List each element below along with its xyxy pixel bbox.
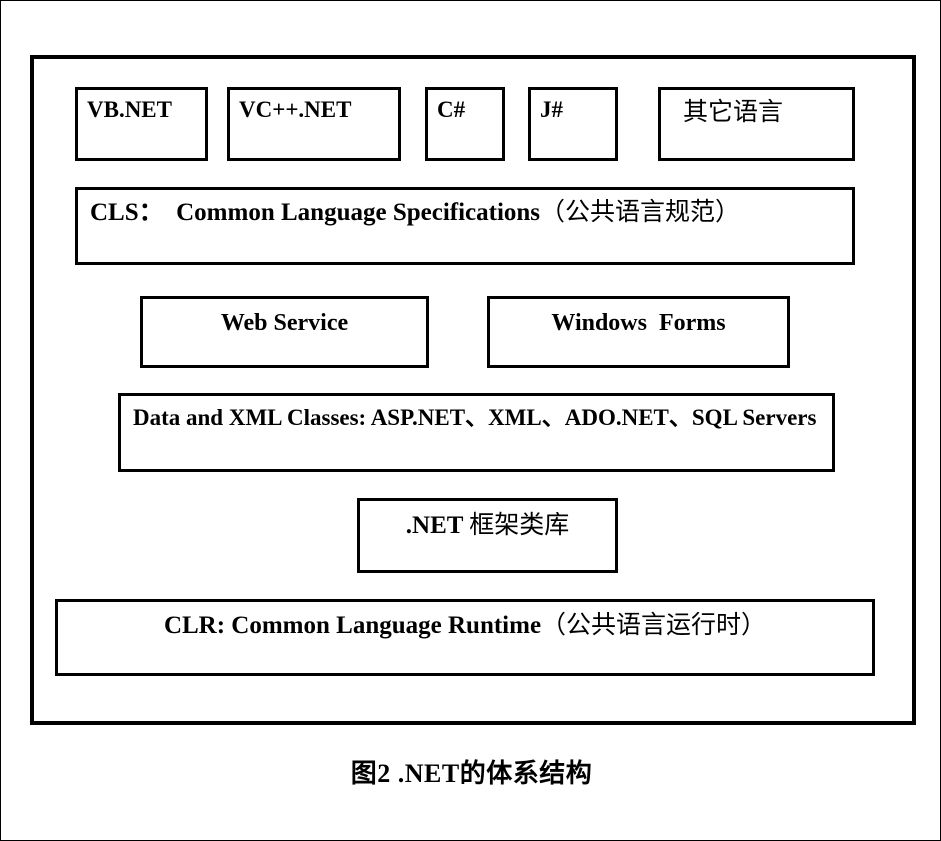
language-box-jsharp: J# bbox=[528, 87, 618, 161]
figure-caption: 图2 .NET的体系结构 bbox=[1, 753, 941, 790]
web-service-box: Web Service bbox=[140, 296, 429, 368]
dotnet-framework-class-library-label: .NET 框架类库 bbox=[360, 501, 615, 540]
cls-layer-label-latin: CLS： Common Language Specifications bbox=[90, 199, 540, 226]
language-box-vcppnet: VC++.NET bbox=[227, 87, 401, 161]
fcl-label-cjk: 框架类库 bbox=[469, 512, 569, 539]
windows-forms-label: Windows Forms bbox=[490, 299, 787, 337]
figure-page: VB.NET VC++.NET C# J# 其它语言 CLS： Common L… bbox=[0, 0, 941, 841]
dotnet-architecture-diagram: VB.NET VC++.NET C# J# 其它语言 CLS： Common L… bbox=[30, 55, 916, 725]
cls-layer-label-cjk: （公共语言规范） bbox=[540, 199, 740, 226]
data-and-xml-classes-label: Data and XML Classes: ASP.NET、XML、ADO.NE… bbox=[121, 396, 832, 433]
language-box-jsharp-label: J# bbox=[531, 90, 615, 123]
language-box-other-languages-label: 其它语言 bbox=[661, 90, 852, 127]
clr-layer-box: CLR: Common Language Runtime（公共语言运行时） bbox=[55, 599, 875, 676]
windows-forms-box: Windows Forms bbox=[487, 296, 790, 368]
fcl-label-latin: .NET bbox=[406, 512, 469, 539]
cls-layer-label: CLS： Common Language Specifications（公共语言… bbox=[78, 190, 852, 227]
language-box-vcppnet-label: VC++.NET bbox=[230, 90, 398, 123]
web-service-label: Web Service bbox=[143, 299, 426, 337]
cls-layer-box: CLS： Common Language Specifications（公共语言… bbox=[75, 187, 855, 265]
data-and-xml-classes-box: Data and XML Classes: ASP.NET、XML、ADO.NE… bbox=[118, 393, 835, 472]
language-box-vbnet-label: VB.NET bbox=[78, 90, 205, 123]
language-box-other-languages: 其它语言 bbox=[658, 87, 855, 161]
language-box-csharp: C# bbox=[425, 87, 505, 161]
clr-layer-label-latin: CLR: Common Language Runtime bbox=[164, 612, 541, 639]
language-box-csharp-label: C# bbox=[428, 90, 502, 123]
clr-layer-label: CLR: Common Language Runtime（公共语言运行时） bbox=[58, 602, 872, 640]
dotnet-framework-class-library-box: .NET 框架类库 bbox=[357, 498, 618, 573]
clr-layer-label-cjk: （公共语言运行时） bbox=[541, 612, 766, 639]
language-box-vbnet: VB.NET bbox=[75, 87, 208, 161]
